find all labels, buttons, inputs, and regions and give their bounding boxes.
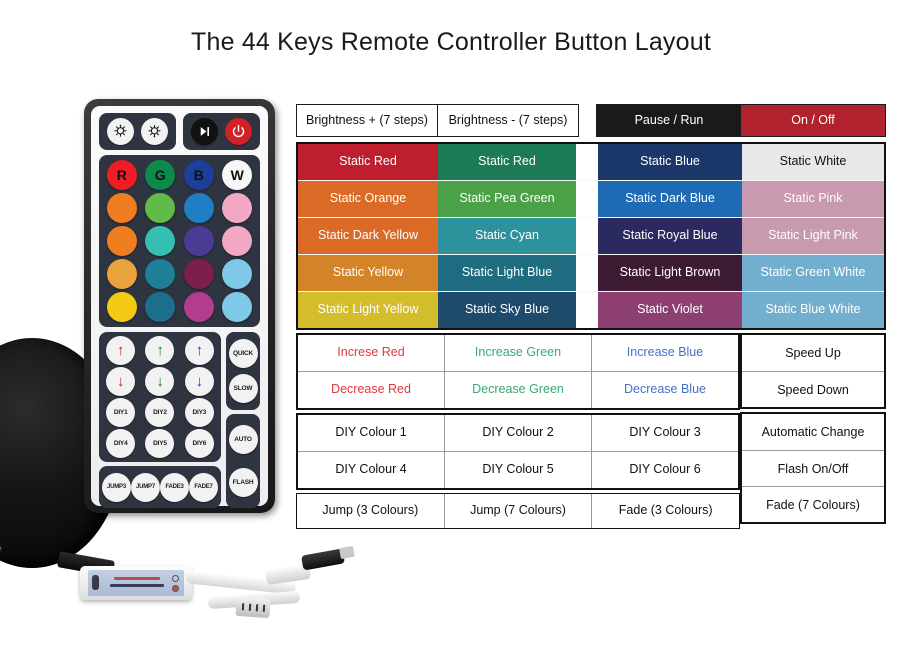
button-layout-table: Brightness + (7 steps)Brightness - (7 st… xyxy=(296,104,886,529)
remote-jump-pad: JUMP3JUMP7FADE3FADE7 xyxy=(99,466,221,508)
diy-colour-cell[interactable]: DIY Colour 4 xyxy=(298,452,444,488)
remote-colour-button-16[interactable] xyxy=(222,259,252,289)
mode-cell[interactable]: Flash On/Off xyxy=(742,450,884,486)
brightness-down-icon[interactable] xyxy=(141,118,168,145)
table-gap xyxy=(579,104,596,137)
diy-colour-cell[interactable]: DIY Colour 1 xyxy=(298,415,444,451)
four-pin-connector xyxy=(235,597,270,618)
ir-receiver-icon xyxy=(92,575,99,590)
remote-colour-button-4[interactable]: W xyxy=(222,160,252,190)
remote-auto-button[interactable]: AUTO xyxy=(229,425,258,454)
remote-colour-button-19[interactable] xyxy=(184,292,214,322)
pause-run-icon[interactable] xyxy=(191,118,218,145)
power-pad xyxy=(183,113,260,150)
remote-mode-pad: AUTOFLASH xyxy=(226,414,260,508)
remote-jump7-button[interactable]: JUMP7 xyxy=(131,473,160,502)
speed-cell[interactable]: Speed Down xyxy=(742,371,884,407)
remote-quick-button[interactable]: QUICK xyxy=(229,339,258,368)
static-colour-cell[interactable]: Static Blue xyxy=(598,144,742,180)
table-row: DIY Colour 4DIY Colour 5DIY Colour 6 xyxy=(298,451,738,488)
brightness-pad xyxy=(99,113,176,150)
remote-top-row xyxy=(99,113,260,150)
remote-colour-button-12[interactable] xyxy=(222,226,252,256)
led-controller-photo xyxy=(58,538,388,638)
colour-adjust-cell[interactable]: Decrease Blue xyxy=(591,372,738,408)
static-colour-block: Static RedStatic RedStatic BlueStatic Wh… xyxy=(296,142,886,330)
remote-colour-button-1[interactable]: R xyxy=(107,160,137,190)
on-off-cell[interactable]: On / Off xyxy=(741,105,885,136)
table-lower-left: Increse RedIncrease GreenIncrease BlueDe… xyxy=(296,333,740,529)
remote-diy1-button[interactable]: DIY1 xyxy=(106,398,135,427)
speed-block: Speed UpSpeed Down xyxy=(740,333,886,409)
remote-diy5-button[interactable]: DIY5 xyxy=(145,429,174,458)
colour-row-gap xyxy=(576,181,598,217)
colour-adjust-block: Increse RedIncrease GreenIncrease BlueDe… xyxy=(296,333,740,410)
remote-colour-button-7[interactable] xyxy=(184,193,214,223)
speed-cell[interactable]: Speed Up xyxy=(742,335,884,371)
page-title: The 44 Keys Remote Controller Button Lay… xyxy=(0,28,902,57)
colour-row-gap xyxy=(576,144,598,180)
colour-adjust-cell[interactable]: Decrease Green xyxy=(444,372,591,408)
remote-increase-green-button[interactable]: ↑ xyxy=(145,336,174,365)
static-colour-cell[interactable]: Static Red xyxy=(438,144,576,180)
static-colour-cell[interactable]: Static Violet xyxy=(598,292,742,328)
remote-diy3-button[interactable]: DIY3 xyxy=(185,398,214,427)
remote-function-right: QUICKSLOW AUTOFLASH xyxy=(226,332,260,508)
static-colour-cell[interactable]: Static Green White xyxy=(742,255,884,291)
label-indicator-dot xyxy=(172,575,179,582)
remote-diy6-button[interactable]: DIY6 xyxy=(185,429,214,458)
table-lower-section: Increse RedIncrease GreenIncrease BlueDe… xyxy=(296,333,886,529)
brightness-cell-2[interactable]: Brightness - (7 steps) xyxy=(437,105,578,136)
colour-row-gap xyxy=(576,255,598,291)
static-colour-cell[interactable]: Static Cyan xyxy=(438,218,576,254)
label-indicator-dot xyxy=(172,585,179,592)
dc-barrel-connector xyxy=(301,548,345,570)
remote-jump3-button[interactable]: JUMP3 xyxy=(102,473,131,502)
label-text-line xyxy=(110,584,164,587)
remote-colour-button-9[interactable] xyxy=(107,226,137,256)
static-colour-cell[interactable]: Static Sky Blue xyxy=(438,292,576,328)
static-colour-cell[interactable]: Static Light Pink xyxy=(742,218,884,254)
static-colour-cell[interactable]: Static Dark Yellow xyxy=(298,218,438,254)
remote-colour-button-5[interactable] xyxy=(107,193,137,223)
jump-fade-cell[interactable]: Fade (3 Colours) xyxy=(591,494,739,528)
jump-fade-block: Jump (3 Colours)Jump (7 Colours)Fade (3 … xyxy=(296,493,740,529)
colour-adjust-cell[interactable]: Increase Blue xyxy=(591,335,738,371)
diy-colour-cell[interactable]: DIY Colour 3 xyxy=(591,415,738,451)
colour-row-gap xyxy=(576,218,598,254)
table-row: Decrease RedDecrease GreenDecrease Blue xyxy=(298,371,738,408)
table-row: Static RedStatic RedStatic BlueStatic Wh… xyxy=(298,144,884,180)
diy-colour-cell[interactable]: DIY Colour 2 xyxy=(444,415,591,451)
table-row: DIY Colour 1DIY Colour 2DIY Colour 3 xyxy=(298,415,738,451)
remote-faceplate: RGBW ↑↑↑↓↓↓DIY1DIY2DIY3DIY4DIY5DIY6 JUMP… xyxy=(91,106,268,506)
colour-row-gap xyxy=(576,292,598,328)
remote-flash-button[interactable]: FLASH xyxy=(229,468,258,497)
remote-colour-button-8[interactable] xyxy=(222,193,252,223)
mode-block: Automatic ChangeFlash On/OffFade (7 Colo… xyxy=(740,412,886,524)
remote-speed-pad: QUICKSLOW xyxy=(226,332,260,410)
mode-cell[interactable]: Fade (7 Colours) xyxy=(742,486,884,522)
remote-decrease-blue-button[interactable]: ↓ xyxy=(185,367,214,396)
decrease-red-arrow-icon: ↓ xyxy=(117,374,124,389)
remote-color-pad: RGBW xyxy=(99,155,260,327)
static-colour-cell[interactable]: Static Pea Green xyxy=(438,181,576,217)
static-colour-cell[interactable]: Static Royal Blue xyxy=(598,218,742,254)
static-colour-cell[interactable]: Static Dark Blue xyxy=(598,181,742,217)
remote-function-area: ↑↑↑↓↓↓DIY1DIY2DIY3DIY4DIY5DIY6 JUMP3JUMP… xyxy=(99,332,260,508)
colour-adjust-cell[interactable]: Increse Red xyxy=(298,335,444,371)
brightness-up-icon[interactable] xyxy=(107,118,134,145)
brightness-cell-1[interactable]: Brightness + (7 steps) xyxy=(297,105,437,136)
static-colour-cell[interactable]: Static Blue White xyxy=(742,292,884,328)
table-row: Increse RedIncrease GreenIncrease Blue xyxy=(298,335,738,371)
decrease-green-arrow-icon: ↓ xyxy=(156,374,163,389)
remote-arrow-diy-pad: ↑↑↑↓↓↓DIY1DIY2DIY3DIY4DIY5DIY6 xyxy=(99,332,221,462)
remote-colour-button-2[interactable]: G xyxy=(145,160,175,190)
diy-colour-block: DIY Colour 1DIY Colour 2DIY Colour 3DIY … xyxy=(296,413,740,490)
led-strip-segment xyxy=(0,530,1,561)
remote-colour-button-13[interactable] xyxy=(107,259,137,289)
jump-fade-cell[interactable]: Jump (7 Colours) xyxy=(444,494,592,528)
static-colour-cell[interactable]: Static Orange xyxy=(298,181,438,217)
remote-increase-red-button[interactable]: ↑ xyxy=(106,336,135,365)
remote-colour-button-15[interactable] xyxy=(184,259,214,289)
static-colour-cell[interactable]: Static White xyxy=(742,144,884,180)
controller-body xyxy=(80,566,192,600)
static-colour-cell[interactable]: Static Light Blue xyxy=(438,255,576,291)
pause-run-cell[interactable]: Pause / Run xyxy=(597,105,741,136)
table-row: Static Light YellowStatic Sky BlueStatic… xyxy=(298,291,884,328)
label-text-line xyxy=(114,577,160,580)
remote-fade7-button[interactable]: FADE7 xyxy=(189,473,218,502)
remote-colour-button-10[interactable] xyxy=(145,226,175,256)
remote-diy2-button[interactable]: DIY2 xyxy=(145,398,174,427)
static-colour-cell[interactable]: Static Light Yellow xyxy=(298,292,438,328)
remote-slow-button[interactable]: SLOW xyxy=(229,374,258,403)
remote-increase-blue-button[interactable]: ↑ xyxy=(185,336,214,365)
remote-colour-button-3[interactable]: B xyxy=(184,160,214,190)
colour-adjust-cell[interactable]: Decrease Red xyxy=(298,372,444,408)
static-colour-cell[interactable]: Static Light Brown xyxy=(598,255,742,291)
static-colour-cell[interactable]: Static Pink xyxy=(742,181,884,217)
static-colour-cell[interactable]: Static Red xyxy=(298,144,438,180)
remote-colour-button-6[interactable] xyxy=(145,193,175,223)
remote-colour-button-14[interactable] xyxy=(145,259,175,289)
jump-fade-cell[interactable]: Jump (3 Colours) xyxy=(297,494,444,528)
remote-colour-button-18[interactable] xyxy=(145,292,175,322)
decrease-blue-arrow-icon: ↓ xyxy=(196,374,203,389)
diy-colour-cell[interactable]: DIY Colour 6 xyxy=(591,452,738,488)
remote-colour-button-20[interactable] xyxy=(222,292,252,322)
increase-blue-arrow-icon: ↑ xyxy=(196,343,203,358)
table-lower-right: Speed UpSpeed Down Automatic ChangeFlash… xyxy=(740,333,886,529)
mode-cell[interactable]: Automatic Change xyxy=(742,414,884,450)
remote-colour-button-17[interactable] xyxy=(107,292,137,322)
controller-label xyxy=(88,570,184,596)
remote-decrease-green-button[interactable]: ↓ xyxy=(145,367,174,396)
static-colour-cell[interactable]: Static Yellow xyxy=(298,255,438,291)
increase-green-arrow-icon: ↑ xyxy=(156,343,163,358)
diy-colour-cell[interactable]: DIY Colour 5 xyxy=(444,452,591,488)
table-row: Static OrangeStatic Pea GreenStatic Dark… xyxy=(298,180,884,217)
remote-fade3-button[interactable]: FADE3 xyxy=(160,473,189,502)
brightness-cell-group: Brightness + (7 steps)Brightness - (7 st… xyxy=(296,104,579,137)
power-icon[interactable] xyxy=(225,118,252,145)
remote-function-left: ↑↑↑↓↓↓DIY1DIY2DIY3DIY4DIY5DIY6 JUMP3JUMP… xyxy=(99,332,221,508)
table-row: Static YellowStatic Light BlueStatic Lig… xyxy=(298,254,884,291)
dc-connector-tip xyxy=(339,546,355,559)
remote-colour-button-11[interactable] xyxy=(184,226,214,256)
table-row-top: Brightness + (7 steps)Brightness - (7 st… xyxy=(296,104,886,137)
colour-adjust-cell[interactable]: Increase Green xyxy=(444,335,591,371)
power-cell-group: Pause / RunOn / Off xyxy=(596,104,886,137)
remote-controller: RGBW ↑↑↑↓↓↓DIY1DIY2DIY3DIY4DIY5DIY6 JUMP… xyxy=(84,99,275,513)
table-row: Static Dark YellowStatic CyanStatic Roya… xyxy=(298,217,884,254)
remote-decrease-red-button[interactable]: ↓ xyxy=(106,367,135,396)
increase-red-arrow-icon: ↑ xyxy=(117,343,124,358)
remote-diy4-button[interactable]: DIY4 xyxy=(106,429,135,458)
